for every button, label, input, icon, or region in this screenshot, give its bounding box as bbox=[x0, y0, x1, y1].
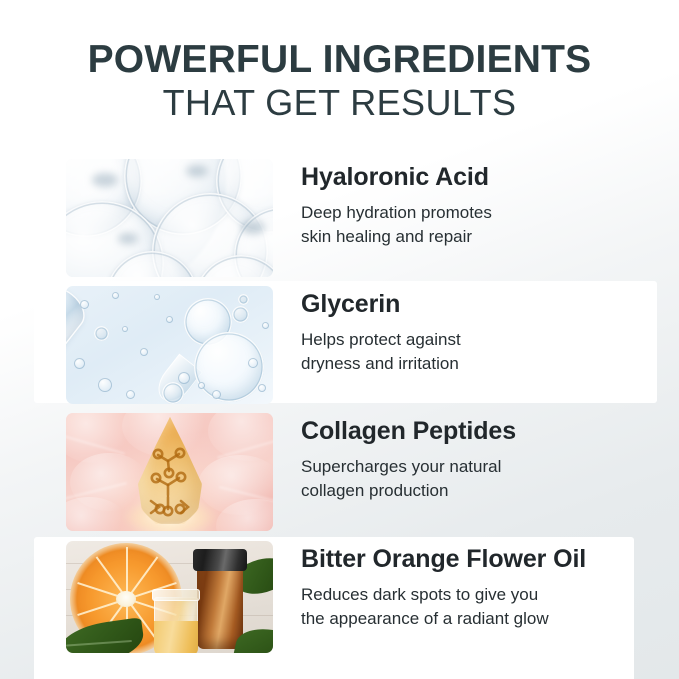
golden-droplet-photo bbox=[66, 413, 273, 531]
ingredient-title: Glycerin bbox=[301, 290, 461, 319]
clear-bubbles-photo bbox=[66, 159, 273, 277]
orange-oil-bottles-photo bbox=[66, 541, 273, 653]
ingredients-infographic: POWERFUL INGREDIENTS THAT GET RESULTS Hy… bbox=[0, 0, 679, 679]
amber-oil-bottle bbox=[197, 565, 243, 649]
ingredient-description: Deep hydration promotes skin healing and… bbox=[301, 201, 492, 249]
title-line-1: POWERFUL INGREDIENTS bbox=[0, 38, 679, 82]
ingredient-copy-glycerin: Glycerin Helps protect against dryness a… bbox=[301, 286, 461, 376]
ingredient-row-hyaloronic-acid: Hyaloronic Acid Deep hydration promotes … bbox=[66, 159, 492, 277]
ingredient-copy-bitter-orange-flower-oil: Bitter Orange Flower Oil Reduces dark sp… bbox=[301, 541, 586, 631]
glass-oil-jar bbox=[154, 597, 198, 653]
bottle-cap bbox=[193, 549, 247, 571]
pipette-bubbles-photo bbox=[66, 286, 273, 404]
ingredient-row-bitter-orange-flower-oil: Bitter Orange Flower Oil Reduces dark sp… bbox=[66, 541, 586, 653]
title-line-2: THAT GET RESULTS bbox=[0, 82, 679, 124]
ingredient-description: Supercharges your natural collagen produ… bbox=[301, 455, 516, 503]
ingredient-description: Helps protect against dryness and irrita… bbox=[301, 328, 461, 376]
ingredient-row-glycerin: Glycerin Helps protect against dryness a… bbox=[66, 286, 461, 404]
ingredient-description: Reduces dark spots to give you the appea… bbox=[301, 583, 586, 631]
page-title: POWERFUL INGREDIENTS THAT GET RESULTS bbox=[0, 38, 679, 124]
molecule-overlay-icon bbox=[138, 417, 202, 525]
ingredient-copy-hyaloronic-acid: Hyaloronic Acid Deep hydration promotes … bbox=[301, 159, 492, 249]
ingredient-title: Hyaloronic Acid bbox=[301, 163, 492, 192]
ingredient-title: Bitter Orange Flower Oil bbox=[301, 545, 586, 574]
ingredient-title: Collagen Peptides bbox=[301, 417, 516, 446]
ingredient-copy-collagen-peptides: Collagen Peptides Supercharges your natu… bbox=[301, 413, 516, 503]
ingredient-row-collagen-peptides: Collagen Peptides Supercharges your natu… bbox=[66, 413, 516, 531]
